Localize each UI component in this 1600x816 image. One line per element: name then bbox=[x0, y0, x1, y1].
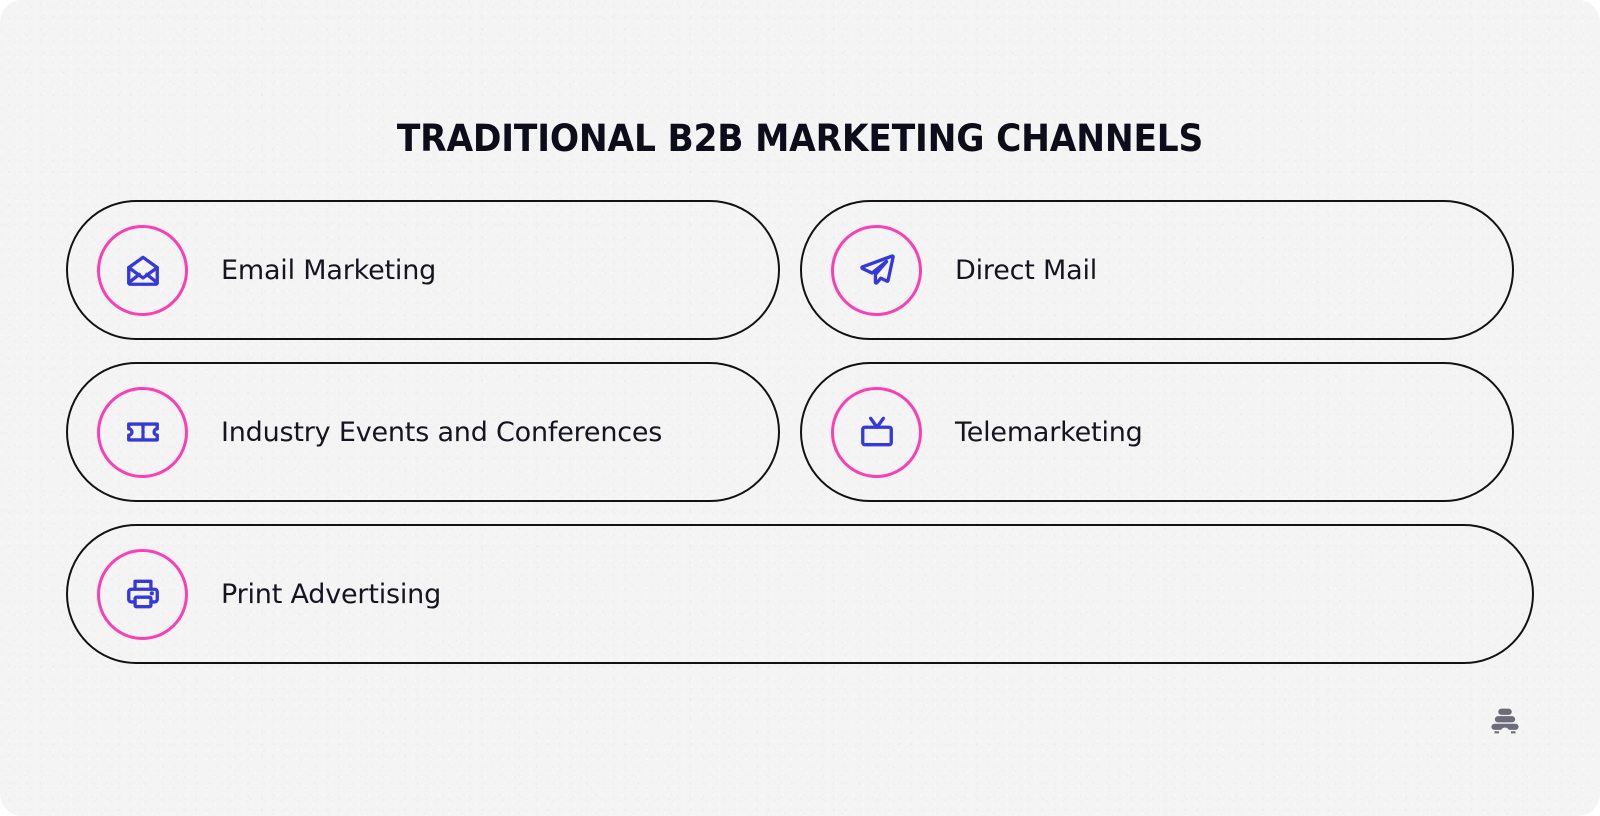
printer-icon bbox=[97, 549, 188, 640]
open-envelope-icon bbox=[97, 225, 188, 316]
channel-card-industry-events-and-conferences[interactable]: Industry Events and Conferences bbox=[66, 362, 780, 502]
channel-label: Print Advertising bbox=[221, 579, 441, 610]
channel-label: Industry Events and Conferences bbox=[221, 417, 662, 448]
channel-card-telemarketing[interactable]: Telemarketing bbox=[800, 362, 1514, 502]
channel-row-1: Email Marketing Direct Mail bbox=[66, 200, 1534, 340]
page-title: TRADITIONAL B2B MARKETING CHANNELS bbox=[56, 117, 1544, 160]
channel-card-direct-mail[interactable]: Direct Mail bbox=[800, 200, 1514, 340]
infographic-canvas: TRADITIONAL B2B MARKETING CHANNELS Email… bbox=[0, 0, 1600, 816]
channel-row-2: Industry Events and Conferences Telemark… bbox=[66, 362, 1534, 502]
beehive-logo bbox=[1488, 704, 1522, 738]
channel-card-email-marketing[interactable]: Email Marketing bbox=[66, 200, 780, 340]
channel-row-3: Print Advertising bbox=[66, 524, 1534, 664]
channel-label: Telemarketing bbox=[955, 417, 1143, 448]
channel-grid: Email Marketing Direct Mail bbox=[66, 200, 1534, 686]
ticket-icon bbox=[97, 387, 188, 478]
television-icon bbox=[831, 387, 922, 478]
channel-card-print-advertising[interactable]: Print Advertising bbox=[66, 524, 1534, 664]
channel-label: Direct Mail bbox=[955, 255, 1097, 286]
paper-plane-icon bbox=[831, 225, 922, 316]
channel-label: Email Marketing bbox=[221, 255, 436, 286]
